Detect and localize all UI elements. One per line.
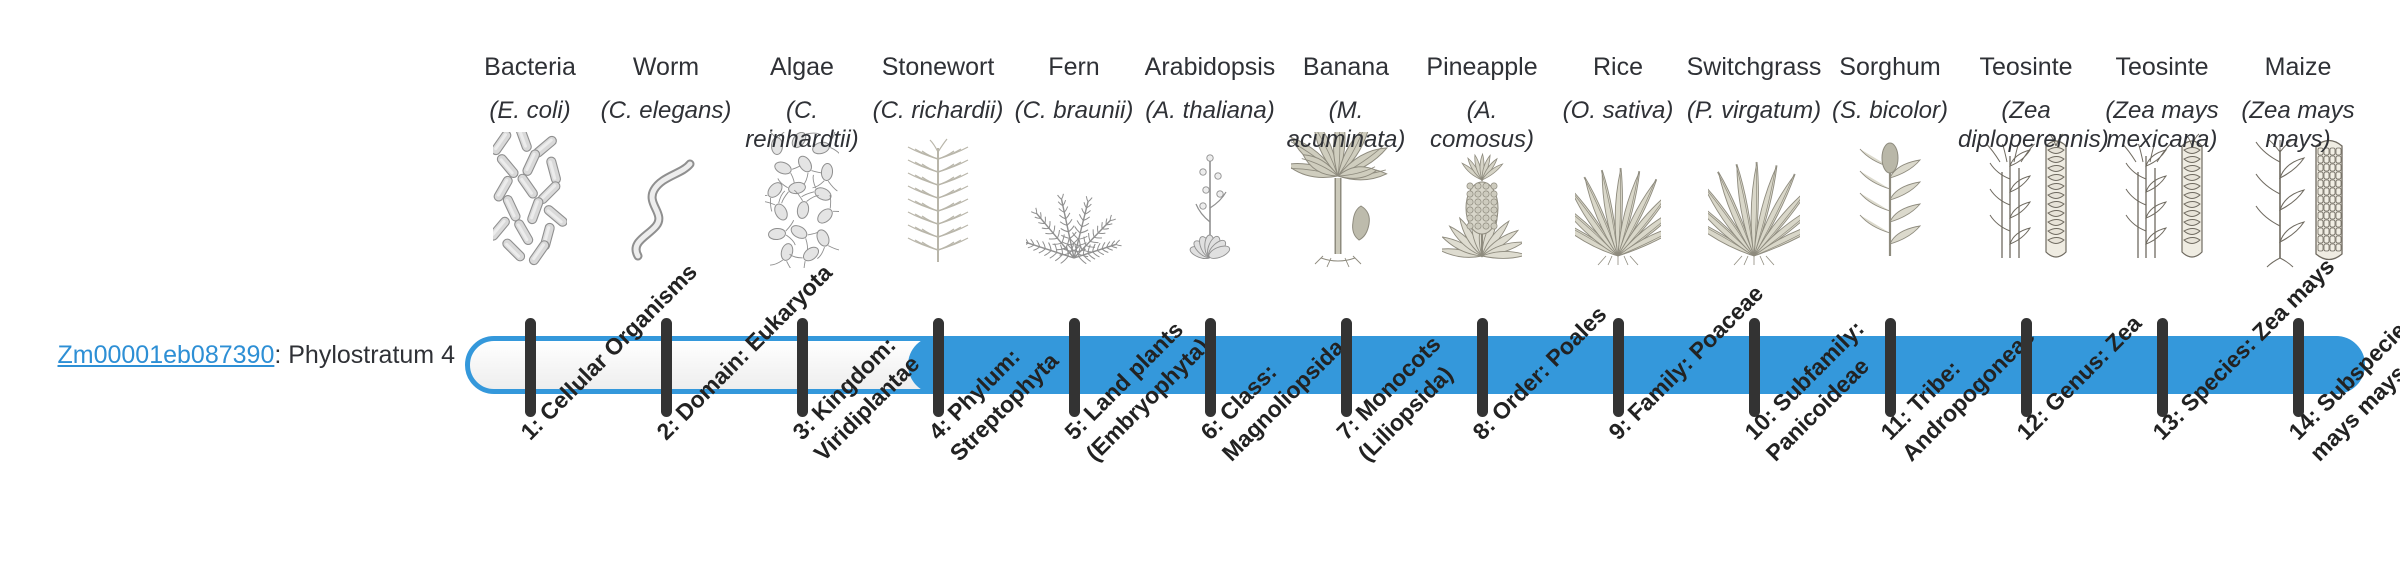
phylostratum-tick[interactable] (1205, 318, 1216, 417)
arabidopsis-illustration (1140, 168, 1280, 268)
species-column: Stonewort(C. richardii) (870, 52, 1006, 125)
fern-illustration (1004, 168, 1144, 268)
phylostratum-tick[interactable] (933, 318, 944, 417)
species-common-name: Maize (2230, 52, 2366, 82)
species-column: Pineapple(A. comosus) (1414, 52, 1550, 154)
stonewort-illustration (868, 168, 1008, 268)
species-scientific-name: (C. reinhardtii) (734, 96, 870, 154)
species-scientific-name: (C. elegans) (598, 96, 734, 125)
phylostratum-tick[interactable] (1477, 318, 1488, 417)
species-column: Teosinte(Zea diploperennis) (1958, 52, 2094, 154)
species-common-name: Stonewort (870, 52, 1006, 82)
species-common-name: Arabidopsis (1142, 52, 1278, 82)
teosinte-plant-and-ear-illustration (1956, 168, 2096, 268)
phylostratum-tick[interactable] (661, 318, 672, 417)
species-common-name: Fern (1006, 52, 1142, 82)
species-column: Bacteria(E. coli) (462, 52, 598, 125)
phylostratigraphy-figure: Zm00001eb087390: Phylostratum 4 (0, 0, 2400, 580)
species-scientific-name: (Zea diploperennis) (1958, 96, 2094, 154)
sorghum-illustration (1820, 168, 1960, 268)
species-scientific-name: (A. thaliana) (1142, 96, 1278, 125)
species-column: Rice(O. sativa) (1550, 52, 1686, 125)
species-scientific-name: (Zea mays mexicana) (2094, 96, 2230, 154)
species-common-name: Banana (1278, 52, 1414, 82)
species-common-name: Rice (1550, 52, 1686, 82)
bacteria-illustration (460, 168, 600, 268)
species-scientific-name: (Zea mays mays) (2230, 96, 2366, 154)
species-common-name: Bacteria (462, 52, 598, 82)
phylostratum-tick[interactable] (2021, 318, 2032, 417)
species-scientific-name: (C. richardii) (870, 96, 1006, 125)
species-scientific-name: (P. virgatum) (1686, 96, 1822, 125)
species-common-name: Algae (734, 52, 870, 82)
species-scientific-name: (S. bicolor) (1822, 96, 1958, 125)
phylostratum-tick[interactable] (1069, 318, 1080, 417)
pineapple-illustration (1412, 168, 1552, 268)
species-common-name: Teosinte (2094, 52, 2230, 82)
species-scientific-name: (C. braunii) (1006, 96, 1142, 125)
species-column: Fern(C. braunii) (1006, 52, 1142, 125)
gene-id-link[interactable]: Zm00001eb087390 (58, 341, 275, 369)
species-column: Sorghum(S. bicolor) (1822, 52, 1958, 125)
species-common-name: Worm (598, 52, 734, 82)
maize-plant-and-ear-illustration (2228, 168, 2368, 268)
species-common-name: Pineapple (1414, 52, 1550, 82)
species-scientific-name: (M. acuminata) (1278, 96, 1414, 154)
species-scientific-name: (O. sativa) (1550, 96, 1686, 125)
species-column: Algae(C. reinhardtii) (734, 52, 870, 154)
species-common-name: Switchgrass (1686, 52, 1822, 82)
phylostratum-tick[interactable] (1341, 318, 1352, 417)
switchgrass-illustration (1684, 168, 1824, 268)
species-column: Worm(C. elegans) (598, 52, 734, 125)
gene-label: Zm00001eb087390: Phylostratum 4 (0, 340, 455, 370)
species-common-name: Teosinte (1958, 52, 2094, 82)
species-scientific-name: (A. comosus) (1414, 96, 1550, 154)
worm-illustration (596, 168, 736, 268)
teosinte-plant-and-ear-illustration (2092, 168, 2232, 268)
phylostratum-tick[interactable] (1885, 318, 1896, 417)
phylostratum-tick[interactable] (797, 318, 808, 417)
species-column: Banana(M. acuminata) (1278, 52, 1414, 154)
phylostratum-tick[interactable] (1613, 318, 1624, 417)
phylostratum-tick[interactable] (2157, 318, 2168, 417)
species-column: Teosinte(Zea mays mexicana) (2094, 52, 2230, 154)
phylostratum-tick[interactable] (2293, 318, 2304, 417)
gene-phylostratum-text: : Phylostratum 4 (274, 341, 455, 369)
phylostratum-tick[interactable] (525, 318, 536, 417)
species-column: Maize(Zea mays mays) (2230, 52, 2366, 154)
algae-illustration (732, 168, 872, 268)
banana-illustration (1276, 168, 1416, 268)
species-scientific-name: (E. coli) (462, 96, 598, 125)
species-column: Switchgrass(P. virgatum) (1686, 52, 1822, 125)
species-column: Arabidopsis(A. thaliana) (1142, 52, 1278, 125)
rice-illustration (1548, 168, 1688, 268)
phylostratum-tick[interactable] (1749, 318, 1760, 417)
species-common-name: Sorghum (1822, 52, 1958, 82)
